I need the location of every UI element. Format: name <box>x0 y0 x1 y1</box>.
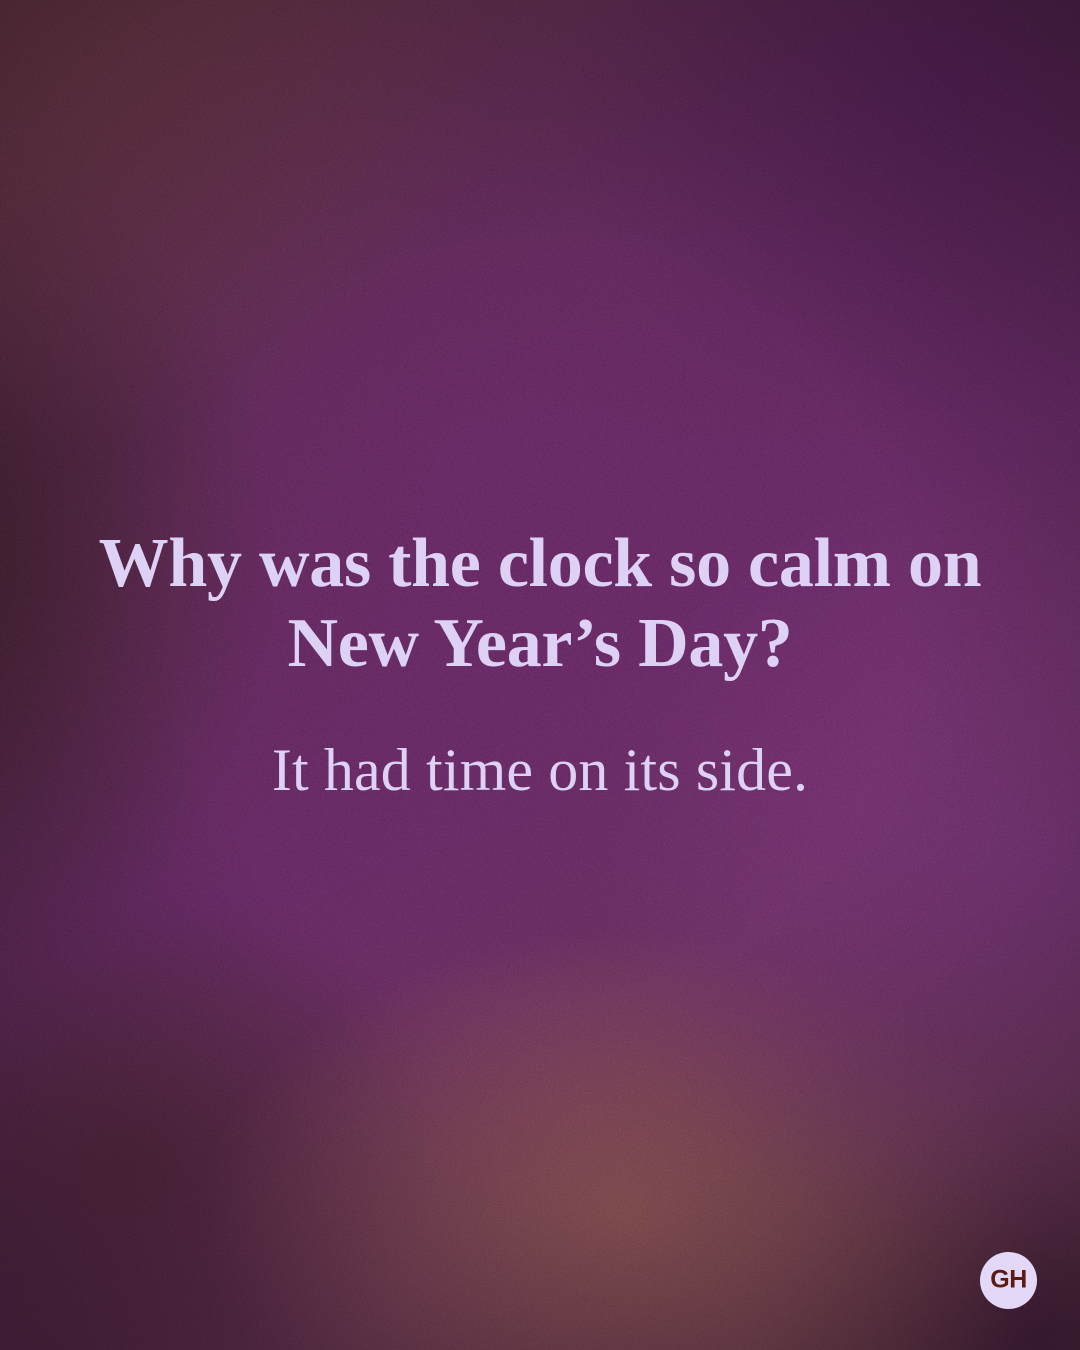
joke-answer: It had time on its side. <box>64 736 1016 804</box>
joke-text-block: Why was the clock so calm on New Year’s … <box>0 524 1080 804</box>
joke-card: Why was the clock so calm on New Year’s … <box>0 0 1080 1350</box>
brand-logo-initials: GH <box>990 1268 1027 1293</box>
joke-question: Why was the clock so calm on New Year’s … <box>64 524 1016 684</box>
brand-logo-badge[interactable]: GH <box>980 1252 1037 1309</box>
